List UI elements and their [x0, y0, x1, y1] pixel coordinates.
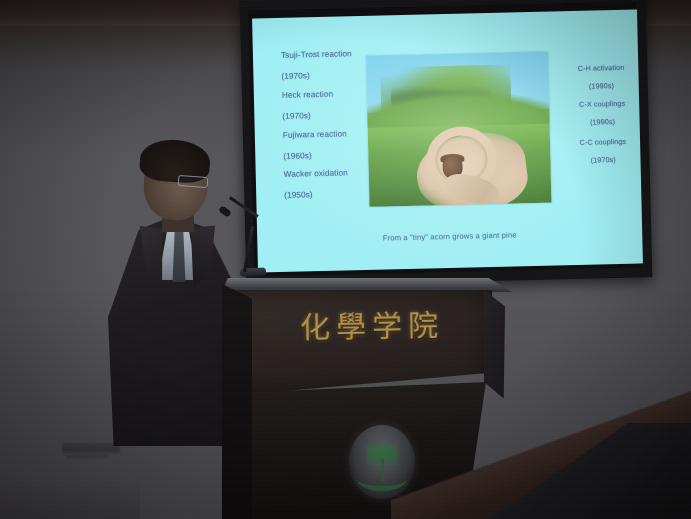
slide-left-item-4-name: Wacker oxidation: [284, 168, 348, 179]
wall-marking: [62, 443, 120, 455]
podium-sign-text: 化學学院: [282, 300, 463, 347]
slide-left-item-2-name: Heck reaction: [282, 89, 334, 99]
slide-caption: From a "tiny" acorn grows a giant pine: [257, 227, 642, 245]
glasses-icon: [178, 175, 209, 188]
podium-top-surface: [222, 278, 512, 292]
slide-right-item-3: C-C couplings (1970s): [579, 128, 626, 165]
acorn-tree-photo: [366, 52, 552, 207]
slide-left-item-1-name: Tsuji-Trost reaction: [281, 49, 352, 60]
photo-grass-hill: [366, 90, 552, 128]
presentation-photo-scene: Tsuji-Trost reaction (1970s) Heck reacti…: [0, 0, 691, 519]
slide-right-item-3-decade: (1970s): [591, 155, 616, 165]
slide-left-item-3-name: Fujiwara reaction: [283, 129, 347, 140]
slide-right-item-1-name: C-H activation: [578, 63, 625, 73]
slide-left-item-4-decade: (1950s): [284, 190, 313, 200]
slide-left-item-2: Heck reaction (1970s): [282, 79, 334, 122]
slide-left-item-3: Fujiwara reaction (1960s): [282, 118, 347, 161]
slide-left-item-1: Tsuji-Trost reaction (1970s): [281, 38, 353, 82]
projected-slide: Tsuji-Trost reaction (1970s) Heck reacti…: [252, 9, 643, 272]
podium-left-edge: [222, 284, 252, 519]
slide-right-item-3-name: C-C couplings: [580, 137, 627, 147]
slide-right-item-2: C-X couplings (1990s): [579, 90, 626, 127]
slide-right-item-1: C-H activation (1990s): [577, 54, 624, 91]
slide-right-item-2-decade: (1990s): [590, 117, 615, 127]
floor-left-shadow: [0, 479, 140, 519]
wall-marking-underline: [66, 455, 108, 458]
slide-right-item-2-name: C-X couplings: [579, 99, 625, 109]
slide-left-item-4: Wacker oxidation (1950s): [283, 157, 348, 200]
stage-edge-right-dark: [491, 423, 691, 519]
